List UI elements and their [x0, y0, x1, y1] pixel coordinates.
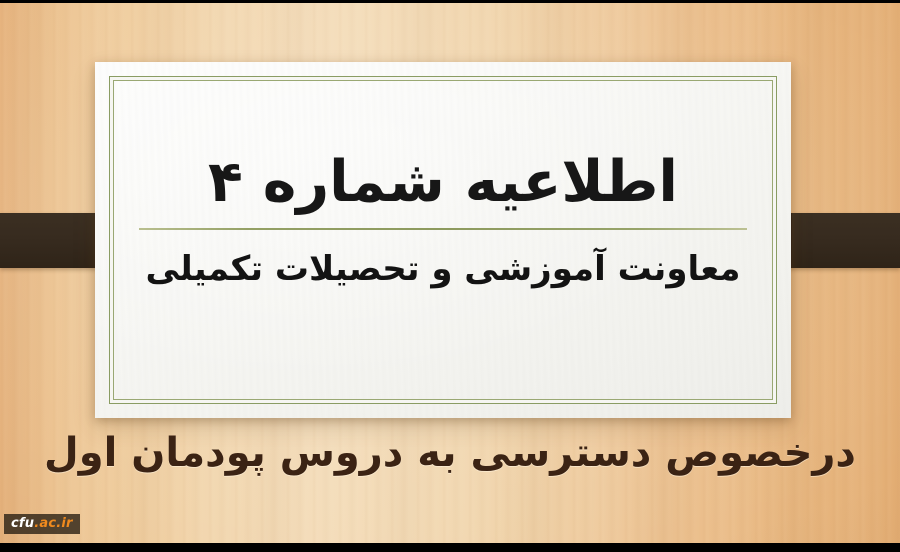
- announcement-caption: درخصوص دسترسی به دروس پودمان اول: [0, 430, 900, 476]
- announcement-card: اطلاعیه شماره ۴ معاونت آموزشی و تحصیلات …: [95, 62, 791, 418]
- letterbox-bar-bottom: [0, 543, 900, 552]
- title-divider: [139, 228, 747, 230]
- watermark-primary-text: cfu: [11, 517, 34, 530]
- site-watermark: cfu.ac.ir: [4, 514, 80, 534]
- announcement-slide: اطلاعیه شماره ۴ معاونت آموزشی و تحصیلات …: [0, 0, 900, 552]
- card-content: اطلاعیه شماره ۴ معاونت آموزشی و تحصیلات …: [117, 84, 769, 396]
- watermark-secondary-text: .ac.ir: [34, 517, 72, 530]
- announcement-title: اطلاعیه شماره ۴: [208, 152, 678, 214]
- letterbox-bar-top: [0, 0, 900, 3]
- ribbon-band-right: [782, 213, 900, 268]
- announcement-subtitle: معاونت آموزشی و تحصیلات تکمیلی: [146, 249, 741, 289]
